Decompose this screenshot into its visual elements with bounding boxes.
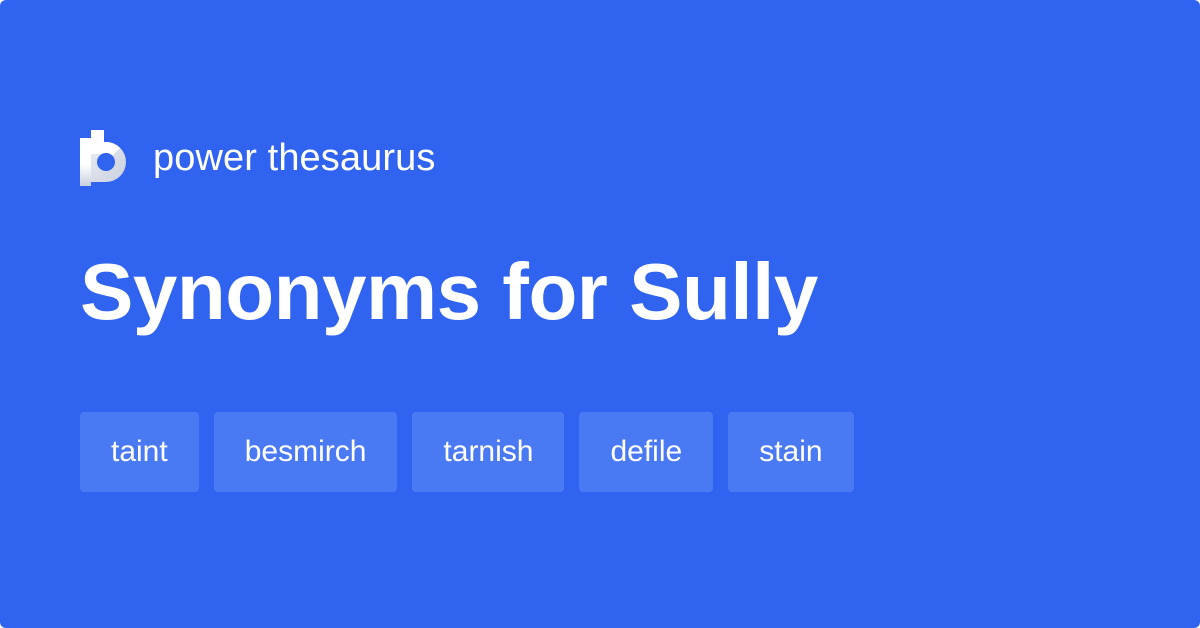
synonym-chip[interactable]: besmirch	[214, 412, 398, 492]
power-thesaurus-b-logo-icon	[80, 130, 128, 186]
synonym-chip[interactable]: tarnish	[412, 412, 564, 492]
synonym-chip-list: taint besmirch tarnish defile stain	[80, 412, 854, 492]
brand-name: power thesaurus	[153, 139, 435, 177]
synonym-chip[interactable]: defile	[579, 412, 713, 492]
brand-header[interactable]: power thesaurus	[80, 128, 435, 188]
og-card: power thesaurus Synonyms for Sully taint…	[0, 0, 1200, 628]
synonym-chip[interactable]: taint	[80, 412, 199, 492]
page-title: Synonyms for Sully	[80, 246, 818, 338]
synonym-chip[interactable]: stain	[728, 412, 853, 492]
